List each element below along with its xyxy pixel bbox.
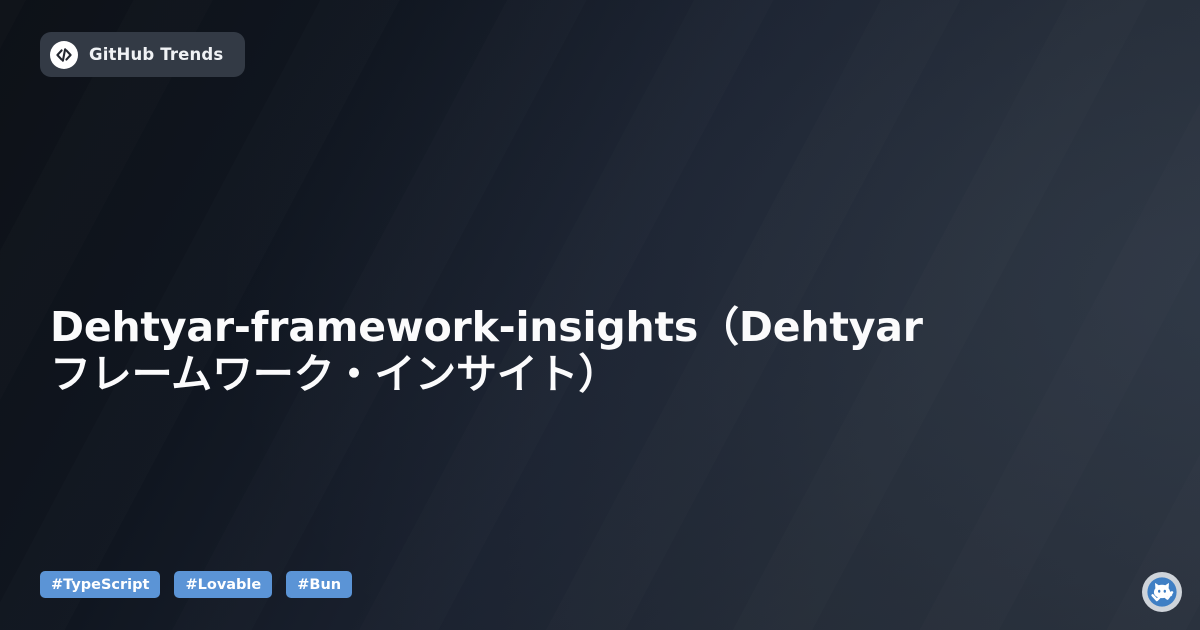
source-badge-label: GitHub Trends — [89, 45, 223, 64]
source-badge[interactable]: GitHub Trends — [40, 32, 245, 77]
tag-typescript[interactable]: #TypeScript — [40, 571, 160, 598]
tag-row: #TypeScript #Lovable #Bun — [40, 571, 352, 598]
code-brackets-icon — [50, 41, 78, 69]
tag-lovable[interactable]: #Lovable — [174, 571, 272, 598]
page-title: Dehtyar-framework-insights（Dehtyar フレームワ… — [50, 304, 930, 398]
social-card: GitHub Trends Dehtyar-framework-insights… — [0, 0, 1200, 630]
tag-bun[interactable]: #Bun — [286, 571, 352, 598]
cat-trending-up-logo — [1142, 572, 1182, 612]
title-block: Dehtyar-framework-insights（Dehtyar フレームワ… — [50, 304, 930, 398]
